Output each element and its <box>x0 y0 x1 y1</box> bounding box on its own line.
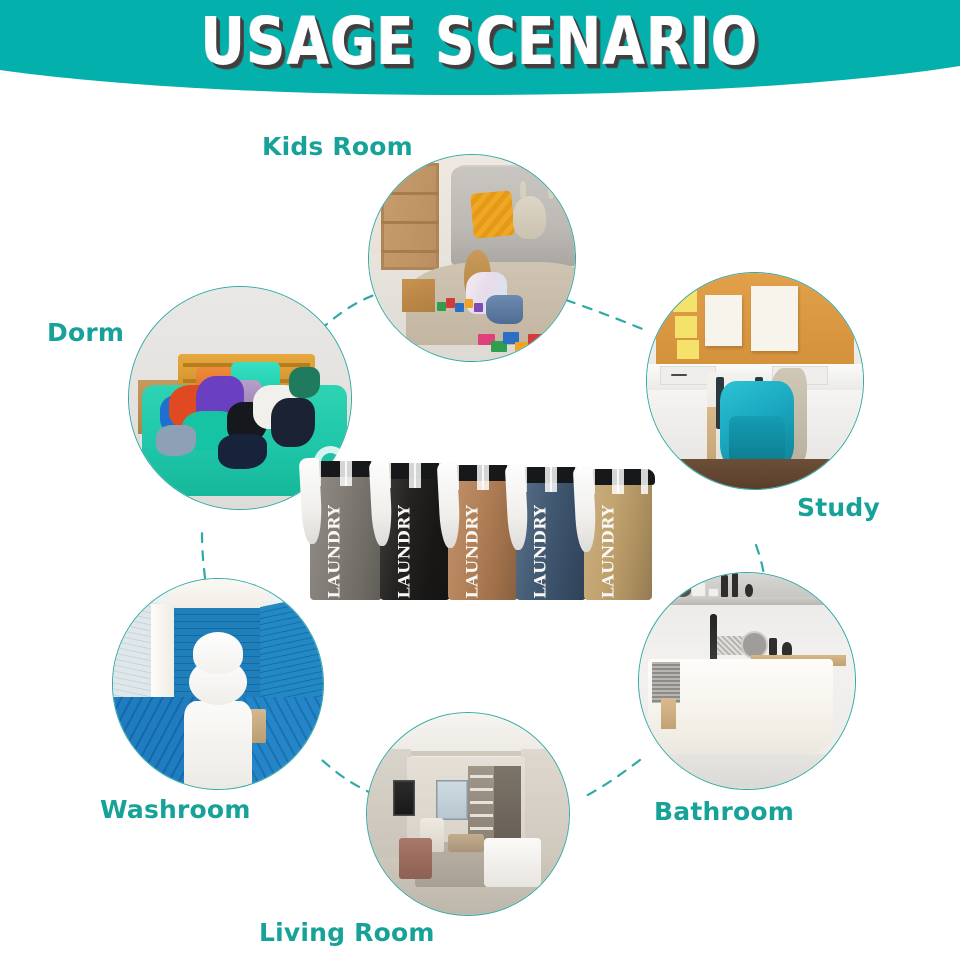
basket-label: LAUNDRY <box>594 496 620 592</box>
basket-label-text: LAUNDRY <box>462 499 481 599</box>
basket-handle-right <box>617 454 648 494</box>
scene-circle-living-room[interactable] <box>366 712 570 916</box>
scene-circle-study[interactable] <box>646 272 864 490</box>
scene-circle-kids-room[interactable] <box>368 154 576 362</box>
basket-label-text: LAUNDRY <box>530 499 549 599</box>
basket-label-text: LAUNDRY <box>325 499 344 599</box>
basket-label: LAUNDRY <box>390 496 416 592</box>
scene-label-living-room: Living Room <box>259 918 435 948</box>
header-banner: USAGE SCENARIO <box>0 0 960 100</box>
scene-circle-washroom[interactable] <box>112 578 324 790</box>
basket-label-text: LAUNDRY <box>598 499 617 599</box>
scene-circle-bathroom[interactable] <box>638 572 856 790</box>
kids-room-photo <box>369 155 575 361</box>
connector-washroom-dorm <box>202 530 205 578</box>
connector-bathroom-living <box>586 760 640 796</box>
basket-label: LAUNDRY <box>320 496 346 592</box>
basket-label: LAUNDRY <box>458 496 484 592</box>
study-photo <box>647 273 863 489</box>
scene-label-study: Study <box>797 493 880 523</box>
page-title: USAGE SCENARIO <box>14 6 945 79</box>
scene-label-washroom: Washroom <box>100 795 251 825</box>
washroom-photo <box>113 579 323 789</box>
product-laundry-baskets[interactable]: LAUNDRY LAUNDRY LAUNDRY <box>306 440 654 600</box>
scene-label-kids-room: Kids Room <box>262 132 413 162</box>
basket-label-text: LAUNDRY <box>394 499 413 599</box>
basket-label: LAUNDRY <box>526 496 552 592</box>
bathroom-photo <box>639 573 855 789</box>
living-room-photo <box>367 713 569 915</box>
infographic-canvas: USAGE SCENARIO <box>0 0 960 960</box>
laundry-basket-khaki[interactable]: LAUNDRY <box>584 480 652 600</box>
scene-label-dorm: Dorm <box>47 318 124 348</box>
connector-kids-study <box>566 300 645 330</box>
scene-label-bathroom: Bathroom <box>654 797 794 827</box>
